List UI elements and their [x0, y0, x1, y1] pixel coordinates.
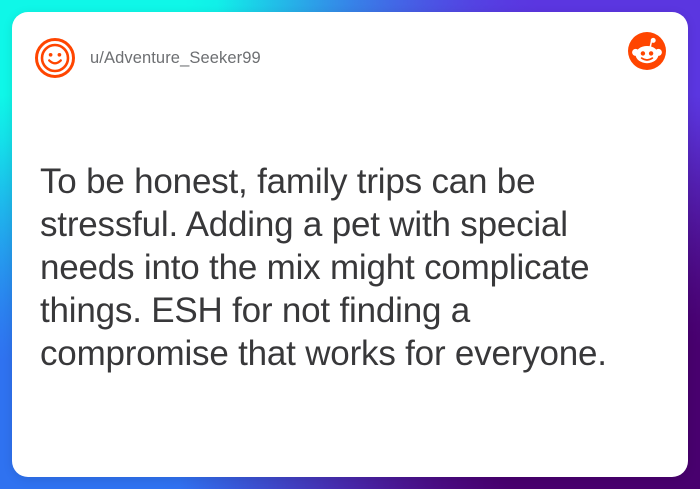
- smiley-face-avatar-icon: [34, 37, 76, 79]
- reddit-post-card: u/Adventure_Seeker99 To be honest, famil…: [12, 12, 688, 477]
- reddit-snoo-logo-icon[interactable]: [628, 32, 666, 70]
- avatar[interactable]: [34, 37, 76, 79]
- username-label: u/Adventure_Seeker99: [90, 49, 261, 68]
- gradient-background: u/Adventure_Seeker99 To be honest, famil…: [0, 0, 700, 489]
- post-header: u/Adventure_Seeker99: [34, 32, 666, 84]
- post-body-text: To be honest, family trips can be stress…: [40, 160, 662, 375]
